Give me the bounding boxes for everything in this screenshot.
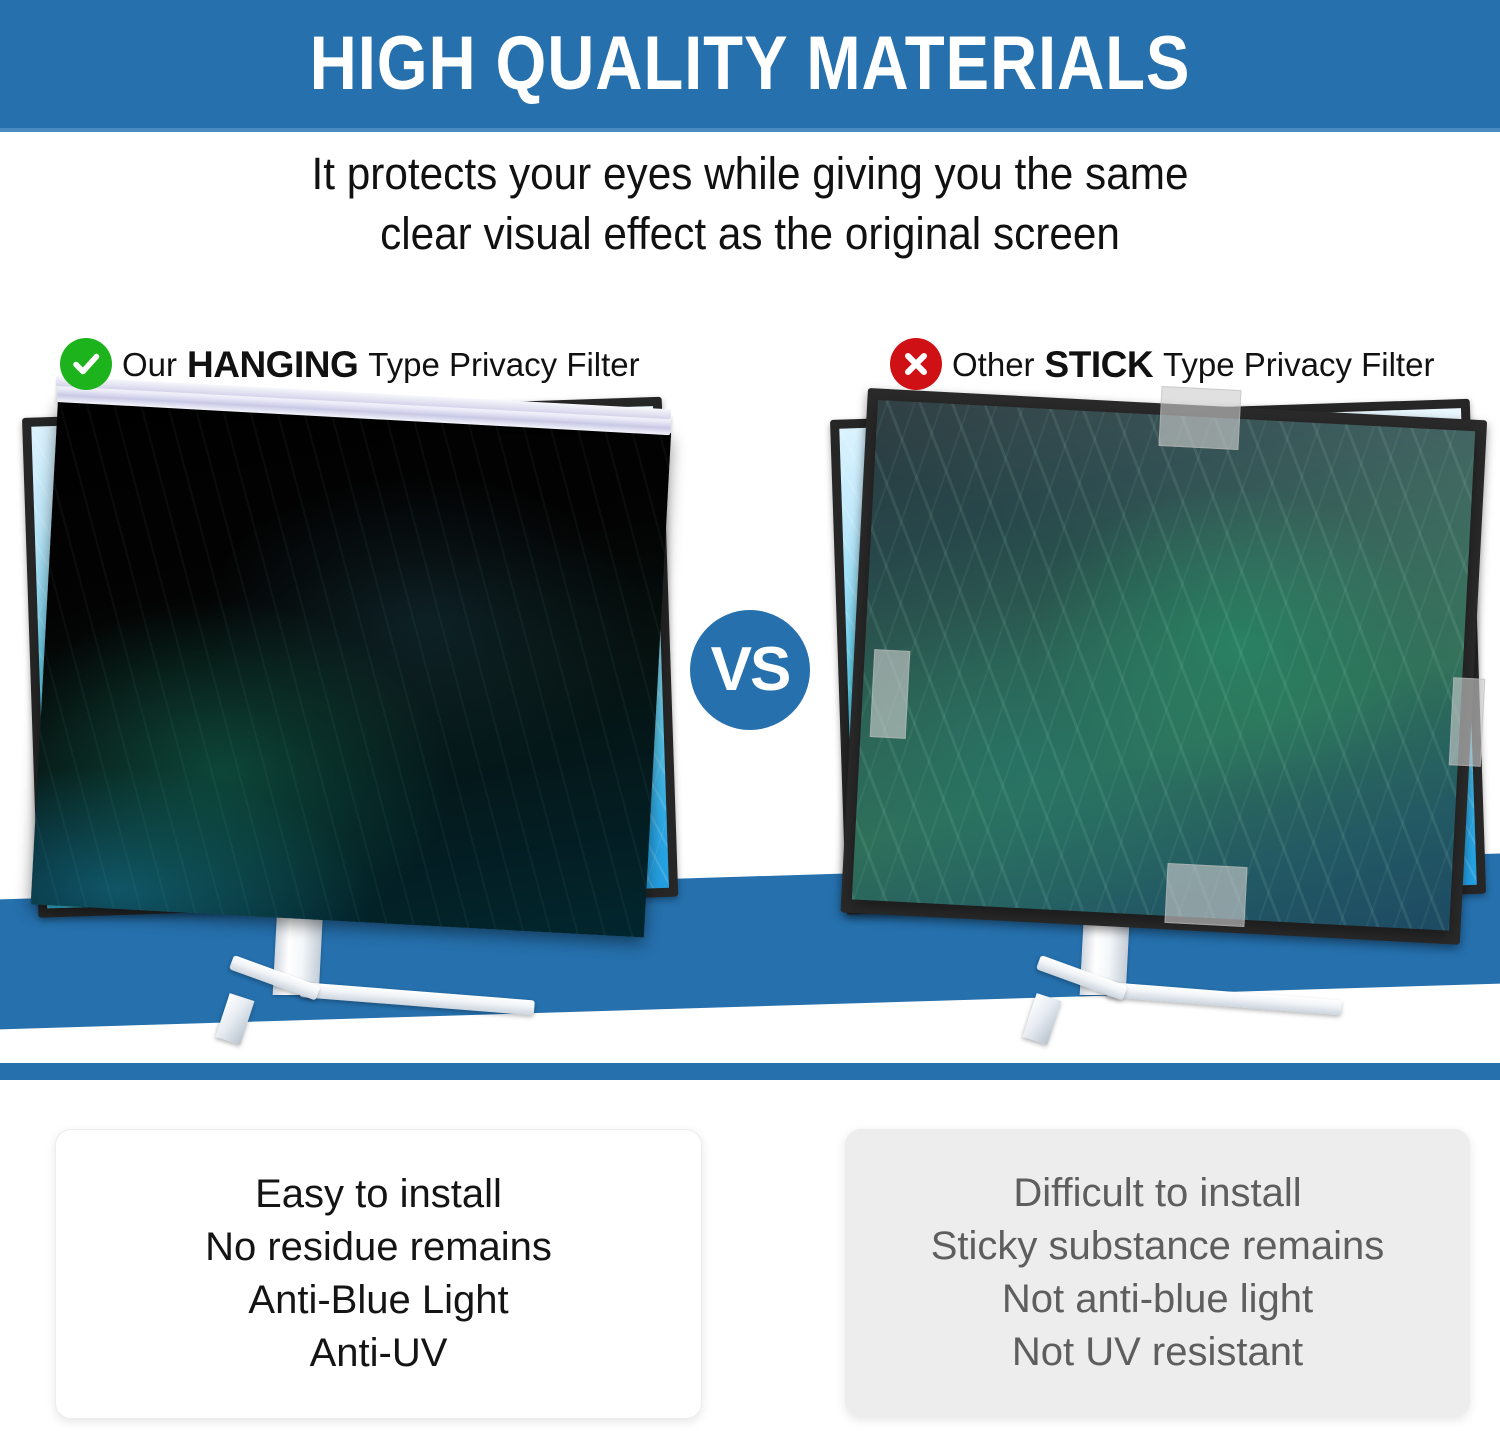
vs-badge: VS bbox=[690, 610, 810, 730]
cons-line: Not UV resistant bbox=[1012, 1326, 1303, 1379]
label-hanging-prefix: Our bbox=[122, 348, 177, 381]
vs-label: VS bbox=[711, 639, 790, 701]
check-circle-icon bbox=[60, 338, 112, 390]
label-stick-prefix: Other bbox=[952, 348, 1035, 381]
pros-line: Anti-Blue Light bbox=[248, 1274, 508, 1327]
tape-top bbox=[1158, 386, 1241, 450]
hanging-privacy-filter-panel bbox=[31, 400, 671, 937]
left-stand-arm-right bbox=[299, 982, 534, 1015]
cons-line: Difficult to install bbox=[1013, 1167, 1301, 1220]
pros-line: Easy to install bbox=[255, 1168, 502, 1221]
pros-line: No residue remains bbox=[205, 1221, 552, 1274]
label-row-hanging: Our HANGING Type Privacy Filter bbox=[60, 338, 640, 390]
cons-line: Sticky substance remains bbox=[931, 1220, 1385, 1273]
infographic-page: HIGH QUALITY MATERIALS It protects your … bbox=[0, 0, 1500, 1431]
header-banner: HIGH QUALITY MATERIALS bbox=[0, 0, 1500, 128]
cons-line: Not anti-blue light bbox=[1002, 1273, 1313, 1326]
comparison-area: Our HANGING Type Privacy Filter Other ST… bbox=[0, 300, 1500, 1090]
subtitle-line-1: It protects your eyes while giving you t… bbox=[45, 144, 1455, 204]
header-divider bbox=[0, 128, 1500, 132]
tape-left bbox=[870, 649, 911, 739]
stick-privacy-filter-panel bbox=[852, 400, 1475, 931]
label-row-stick: Other STICK Type Privacy Filter bbox=[890, 338, 1434, 390]
monitor-hanging-filter bbox=[0, 360, 700, 1040]
label-stick-suffix: Type Privacy Filter bbox=[1163, 348, 1434, 381]
page-title: HIGH QUALITY MATERIALS bbox=[310, 26, 1191, 102]
pros-line: Anti-UV bbox=[310, 1327, 448, 1380]
left-stand-foot bbox=[216, 993, 255, 1045]
cons-box: Difficult to install Sticky substance re… bbox=[845, 1129, 1470, 1417]
tape-right bbox=[1449, 677, 1486, 767]
desk-accent-strip bbox=[0, 1063, 1500, 1080]
pros-box: Easy to install No residue remains Anti-… bbox=[55, 1129, 702, 1419]
subtitle-line-2: clear visual effect as the original scre… bbox=[45, 204, 1455, 264]
label-hanging-emphasis: HANGING bbox=[187, 346, 358, 383]
subtitle: It protects your eyes while giving you t… bbox=[45, 144, 1455, 264]
right-stand-arm-right bbox=[1106, 982, 1341, 1015]
label-stick-emphasis: STICK bbox=[1045, 346, 1154, 383]
right-stand-foot bbox=[1023, 993, 1062, 1045]
x-circle-icon bbox=[890, 338, 942, 390]
monitor-stick-filter bbox=[810, 360, 1500, 1040]
tape-bottom bbox=[1164, 863, 1247, 927]
label-hanging-suffix: Type Privacy Filter bbox=[368, 348, 639, 381]
